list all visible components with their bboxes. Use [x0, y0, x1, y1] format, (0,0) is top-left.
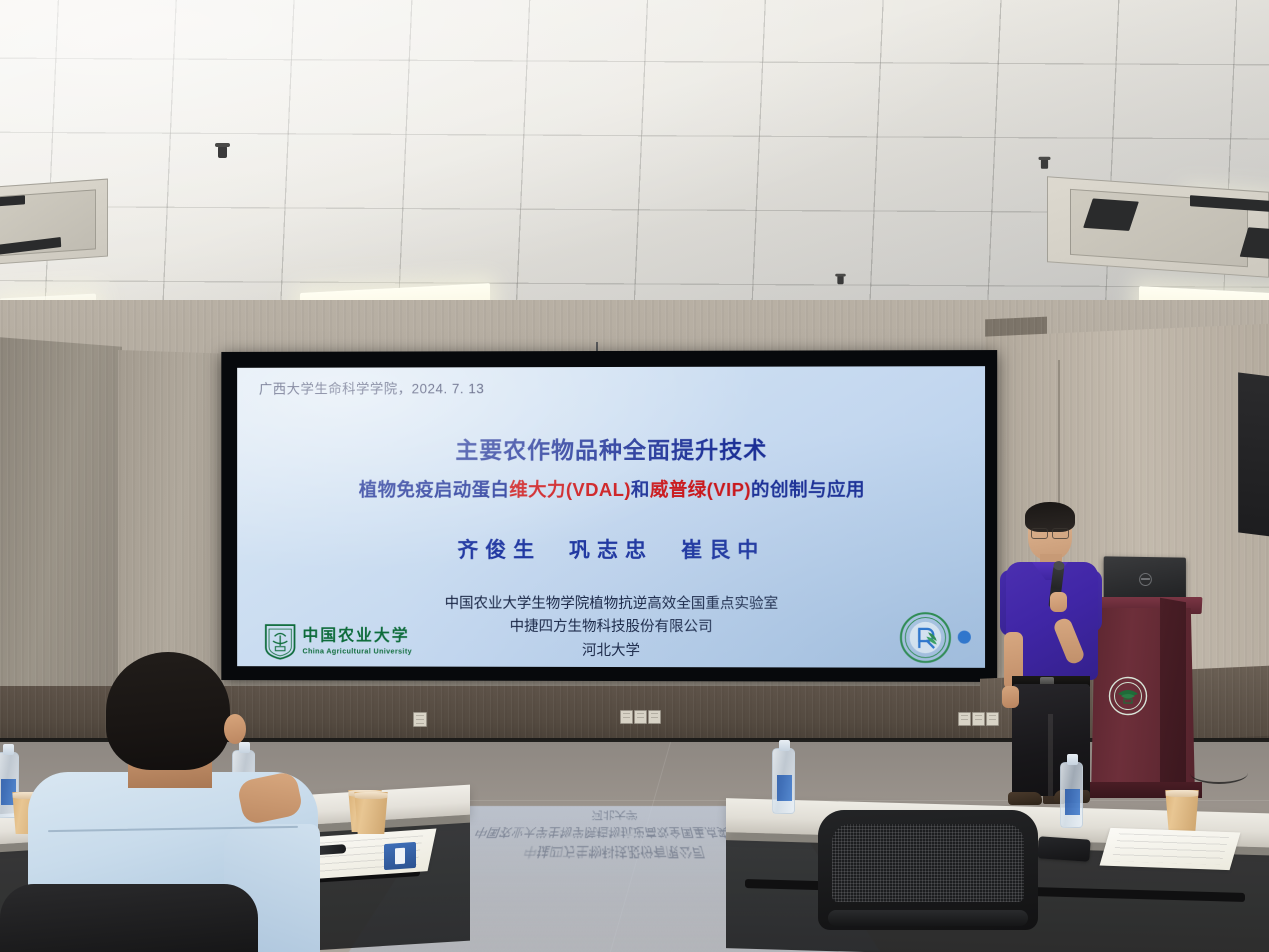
led-display-screen[interactable]: 广西大学生命科学学院，2024. 7. 13 主要农作物品种全面提升技术 植物免…: [221, 350, 997, 682]
subtitle-part-5: 的创制与应用: [751, 479, 865, 500]
water-bottle[interactable]: [1060, 762, 1083, 828]
wall-outlet[interactable]: [413, 712, 427, 727]
screen-surface: 广西大学生命科学学院，2024. 7. 13 主要农作物品种全面提升技术 植物免…: [237, 366, 985, 668]
sprinkler-head: [1041, 159, 1048, 169]
wall-outlet[interactable]: [958, 712, 971, 726]
logo-text-block: 中国农业大学 China Agricultural University: [302, 629, 412, 655]
paper-sheet[interactable]: [1100, 828, 1241, 870]
smartphone[interactable]: [1037, 836, 1090, 862]
chair-lumbar-support: [828, 910, 1028, 926]
ac-cassette-unit: [1047, 176, 1269, 278]
logo-accent-dot: [958, 631, 971, 644]
water-bottle[interactable]: [772, 748, 795, 814]
lectern-side-panel: [1160, 598, 1186, 799]
guangxi-university-emblem-icon: [1108, 676, 1148, 716]
ac-vent: [1190, 195, 1269, 214]
presenter: [998, 500, 1108, 812]
glasses-icon: [1031, 528, 1069, 537]
dell-logo-icon: [1139, 573, 1152, 586]
wall-speaker: [1238, 372, 1269, 537]
presenter-free-hand: [1002, 686, 1019, 708]
sprinkler-head: [837, 276, 843, 284]
presentation-slide: 广西大学生命科学学院，2024. 7. 13 主要农作物品种全面提升技术 植物免…: [237, 366, 985, 668]
blue-card[interactable]: [384, 842, 416, 870]
subtitle-part-1: 植物免疫启动蛋白: [359, 479, 509, 500]
paper-lines: [1111, 834, 1228, 865]
subtitle-part-3: 和: [631, 479, 650, 500]
wall-outlet[interactable]: [634, 710, 647, 724]
sprinkler-head: [218, 146, 227, 158]
wall-outlet[interactable]: [972, 712, 985, 726]
ac-vent: [0, 195, 25, 207]
office-chair[interactable]: [818, 810, 1038, 952]
ac-cassette-unit: [0, 179, 108, 266]
ac-vent: [0, 237, 61, 255]
bottle-label: [777, 775, 792, 801]
attendee-ear: [224, 714, 246, 744]
paper-cup[interactable]: [352, 792, 390, 834]
presenter-hand-holding-mic: [1050, 592, 1067, 612]
slide-subtitle: 植物免疫启动蛋白维大力(VDAL)和威普绿(VIP)的创制与应用: [259, 476, 967, 502]
bottle-label: [1065, 789, 1080, 815]
affiliation-1: 中国农业大学生物学院植物抗逆高效全国重点实验室: [259, 593, 967, 617]
wall-outlet[interactable]: [648, 710, 661, 724]
paper-cup[interactable]: [1163, 790, 1201, 832]
wall-outlet[interactable]: [620, 710, 633, 724]
subtitle-part-4-highlight: 威普绿(VIP): [650, 479, 751, 500]
podium-cable: [1190, 762, 1248, 784]
ac-vent: [1240, 227, 1269, 259]
biotech-company-logo: [899, 611, 951, 663]
ac-vent: [1083, 198, 1139, 231]
logo-english-name: China Agricultural University: [302, 648, 412, 655]
chair-mesh-panel: [832, 824, 1024, 902]
conference-room-scene: 广西大学生命科学学院，2024. 7. 13 主要农作物品种全面提升技术 植物免…: [0, 0, 1269, 952]
subtitle-part-2-highlight: 维大力(VDAL): [509, 479, 631, 500]
trouser-leg-gap: [1048, 714, 1053, 796]
slide-title: 主要农作物品种全面提升技术: [259, 431, 967, 466]
attendee-chair[interactable]: [0, 884, 258, 952]
logo-chinese-name: 中国农业大学: [302, 629, 412, 645]
slide-header-text: 广西大学生命科学学院，2024. 7. 13: [259, 376, 967, 397]
presenter-left-shoe: [1008, 792, 1042, 805]
slide-authors: 齐俊生 巩志忠 崔艮中: [259, 534, 967, 564]
attendee-head: [106, 652, 230, 770]
